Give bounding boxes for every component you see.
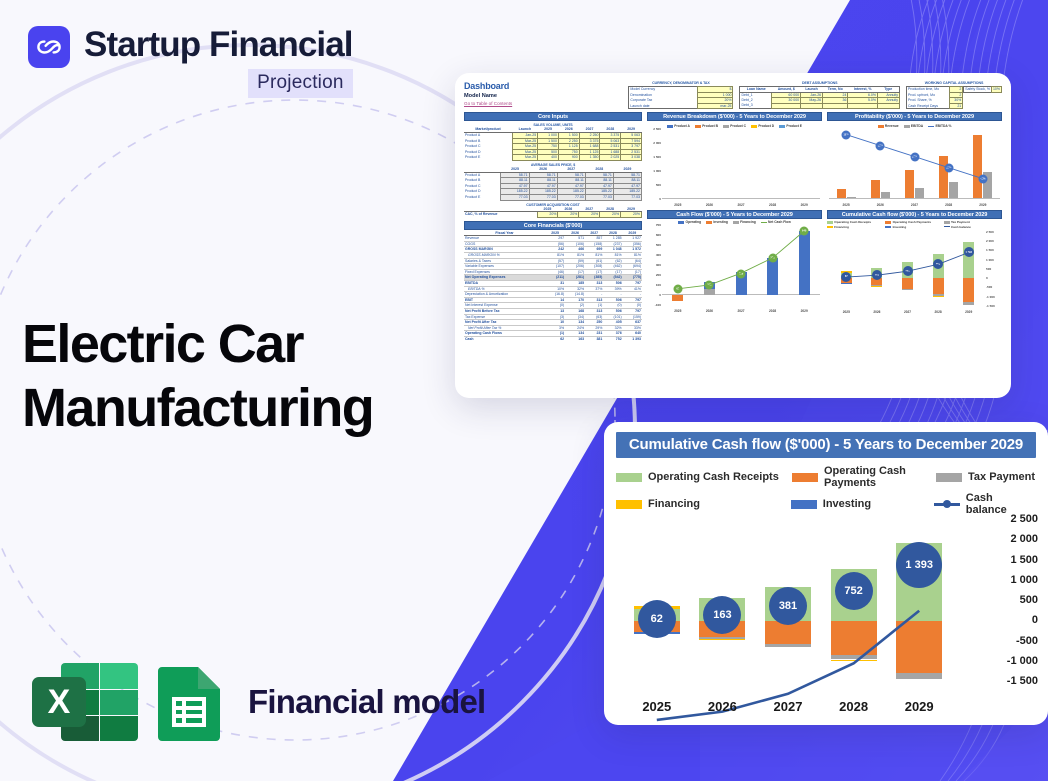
wc-extra-label: Safety Stock, % [964, 87, 992, 93]
row-label: Debt_3 [740, 103, 772, 108]
cac-2027[interactable]: 20% [579, 212, 600, 218]
x-axis-tick: 2025 [629, 699, 685, 714]
microsoft-excel-icon: X [32, 663, 138, 741]
legend-label: Operating Cash Receipts [834, 220, 871, 224]
y-axis-tick: 500 [1020, 594, 1038, 606]
x-axis-tick: 2027 [911, 203, 918, 207]
legend-item-operating-cash-receipts: Operating Cash Receipts [616, 465, 792, 489]
y-axis-tick: 1 500 [653, 155, 661, 159]
legend-swatch [885, 226, 891, 228]
legend-label: Investing [893, 225, 907, 229]
cumulative-mini-legend: Operating Cash ReceiptsOperating Cash Pa… [827, 220, 1002, 229]
chart-x-axis: 20252026202720282029 [624, 682, 952, 716]
legend-label: Product C [730, 124, 746, 128]
legend-item: Revenue [878, 124, 899, 128]
cell-value[interactable]: 77.03 [501, 194, 529, 200]
currency-rows: Model Currency$Denomination1 000Corporat… [629, 87, 733, 109]
y-axis-tick: 1 500 [1010, 554, 1038, 566]
dashboard-screenshot-card[interactable]: Dashboard Model Name Go to Table of Cont… [455, 73, 1011, 398]
legend-item: Operating [678, 220, 701, 224]
infinity-s-logo-icon [28, 26, 70, 68]
excel-letter: X [32, 677, 86, 727]
format-badges: X Financial model [32, 663, 485, 741]
x-axis-tick: 2028 [935, 310, 942, 314]
cell-value[interactable]: 1 350 [579, 155, 600, 161]
x-axis-tick: 2027 [737, 309, 744, 313]
legend-label: Investing [713, 220, 727, 224]
legend-label-operating-cash-payments: Operating Cash Payments [824, 465, 936, 489]
cash-balance-line [831, 232, 984, 306]
x-axis-tick: 2025 [674, 203, 681, 207]
legend-item: Financing [827, 225, 885, 229]
revenue-breakdown-ylabels: 2 5002 0001 5001 0005000 [647, 129, 661, 199]
table-row: Cash621633817521 393 [464, 336, 642, 341]
cumulative-mini-ylabels: 2 5002 0001 5001 0005000-500-1 000-1 500 [986, 232, 1002, 306]
row-label: Product E [464, 155, 512, 161]
row-label: Product E [464, 194, 501, 200]
cash-flow-bars: 62101218371640 [662, 225, 820, 305]
legend-swatch [878, 125, 884, 127]
legend-label: Financing [740, 220, 756, 224]
legend-swatch [733, 221, 739, 223]
profitability-xaxis: 20252026202720282029 [829, 203, 1000, 207]
cumulative-cash-flow-mini-chart: Operating Cash ReceiptsOperating Cash Pa… [827, 220, 1002, 314]
row-label: Cash [464, 336, 545, 341]
debt-assumptions-block: DEBT ASSUMPTIONS Loan NameAmount, $Launc… [739, 81, 900, 109]
cell-value[interactable]: 77.03 [529, 194, 557, 200]
brand-title: Startup Financial [84, 26, 353, 64]
legend-label: Financing [834, 225, 849, 229]
y-axis-tick: 2 500 [986, 230, 994, 234]
legend-label: Tax Payment [951, 220, 970, 224]
ebitda-pct-line [829, 129, 1000, 198]
y-axis-tick: -1 000 [1007, 655, 1038, 667]
cac-2028[interactable]: 20% [600, 212, 621, 218]
cash-flow-ylabels: 7006005004003002001000-100 [647, 225, 661, 305]
legend-swatch [885, 221, 891, 223]
legend-swatch [723, 125, 729, 127]
revenue-breakdown-legend: Product AProduct BProduct CProduct DProd… [647, 124, 822, 128]
chart-data-markers: 621633817521 393 [624, 520, 952, 682]
x-axis-tick: 2027 [737, 203, 744, 207]
legend-swatch [779, 125, 785, 127]
revenue-breakdown-xaxis: 20252026202720282029 [662, 203, 820, 207]
cac-row-label: CAC, % of Revenue [464, 212, 537, 218]
legend-label: Product A [674, 124, 690, 128]
sales-volume-rows: Product AJan-251 0001 5002 2503 3755 063… [464, 132, 642, 160]
legend-swatch-tax-payment [936, 473, 962, 482]
y-axis-tick: 2 000 [1010, 533, 1038, 545]
cac-2026[interactable]: 20% [558, 212, 579, 218]
legend-swatch [751, 125, 757, 127]
cell-value: 381 [585, 336, 603, 341]
cash-flow-legend: OperatingInvestingFinancingNet Cash Flow [647, 220, 822, 224]
legend-item: Product B [695, 124, 718, 128]
legend-swatch [944, 226, 950, 227]
chart-title: Cumulative Cash flow ($'000) - 5 Years t… [616, 432, 1036, 458]
debt-block-heading: DEBT ASSUMPTIONS [739, 81, 900, 85]
legend-swatch-financing [616, 500, 642, 509]
x-axis-tick: 2026 [706, 203, 713, 207]
cash-balance-marker: 1 393 [896, 542, 942, 588]
cumulative-cash-flow-chart-card[interactable]: Cumulative Cash flow ($'000) - 5 Years t… [604, 422, 1048, 725]
legend-label: Operating Cash Payments [893, 220, 932, 224]
cumulative-cash-flow-band: Cumulative Cash flow ($'000) - 5 Years t… [827, 210, 1002, 219]
y-axis-tick: 300 [656, 263, 661, 267]
table-row: Debt_3 [740, 103, 900, 108]
legend-swatch [928, 126, 934, 127]
x-axis-tick: 2026 [706, 309, 713, 313]
legend-label: Cash balance [951, 225, 971, 229]
y-axis-tick: 0 [659, 197, 661, 201]
legend-label-financing: Financing [648, 498, 700, 510]
wc-rows: Production time, Mo2Prod. upfront, Mo2Pr… [907, 87, 963, 109]
legend-item: Investing [885, 225, 943, 229]
cac-2025[interactable]: 20% [537, 212, 558, 218]
cac-2029[interactable]: 20% [621, 212, 642, 218]
legend-item: Operating Cash Receipts [827, 220, 885, 224]
legend-swatch-cash-balance [934, 503, 960, 506]
cell-value: 1 393 [623, 336, 642, 341]
legend-item-investing: Investing [791, 492, 934, 516]
y-axis-tick: 0 [1032, 614, 1038, 626]
y-axis-tick: 600 [656, 233, 661, 237]
revenue-breakdown-plot-area [662, 129, 820, 199]
poster-canvas: Startup Financial Projection Electric Ca… [0, 0, 1048, 781]
cell-value[interactable]: Mar-25 [512, 155, 538, 161]
y-axis-tick: 200 [656, 273, 661, 277]
legend-label: Product D [758, 124, 774, 128]
profitability-plot-area: 10%32%37%39%41% [829, 129, 1000, 199]
y-axis-tick: -100 [655, 303, 661, 307]
page-title: Electric Car Manufacturing [22, 312, 462, 440]
x-axis-tick: 2025 [843, 203, 850, 207]
revenue-breakdown-bars [662, 129, 820, 198]
x-axis-tick: 2026 [873, 310, 880, 314]
x-axis-tick: 2026 [877, 203, 884, 207]
legend-item: Operating Cash Payments [885, 220, 943, 224]
cell-value[interactable] [848, 103, 878, 108]
legend-label: Product E [786, 124, 802, 128]
cash-balance-marker: 62 [638, 600, 676, 638]
cell-value[interactable] [772, 103, 801, 108]
x-axis-tick: 2029 [965, 310, 972, 314]
revenue-breakdown-chart: Product AProduct BProduct CProduct DProd… [647, 124, 822, 207]
legend-swatch-operating-cash-payments [792, 473, 818, 482]
currency-denominator-tax-block: CURRENCY, DENOMINATOR & TAX Model Curren… [628, 81, 733, 109]
legend-swatch [827, 226, 833, 228]
row-label: Cash Receipt Days [907, 103, 950, 109]
legend-swatch-investing [791, 500, 817, 509]
y-axis-tick: 1 000 [653, 169, 661, 173]
y-axis-tick: 2 500 [653, 127, 661, 131]
cell-value[interactable]: 2 025 [600, 155, 621, 161]
x-axis-tick: 2027 [904, 310, 911, 314]
cumulative-mini-bars: 621633817521 393 [831, 232, 984, 306]
y-axis-tick: 700 [656, 223, 661, 227]
x-axis-tick: 2025 [674, 309, 681, 313]
legend-label: Product B [702, 124, 718, 128]
y-axis-tick: 2 000 [653, 141, 661, 145]
y-axis-tick: 2 000 [986, 239, 994, 243]
avg-price-rows: Product A58.7158.7158.7158.7158.71Produc… [464, 172, 642, 200]
x-axis-tick: 2029 [979, 203, 986, 207]
cell-value[interactable] [823, 103, 848, 108]
table-row: Cash Receipt Days21 [907, 103, 963, 109]
legend-swatch-operating-cash-receipts [616, 473, 642, 482]
row-label: Launch date [629, 103, 698, 109]
cell-value[interactable]: 77.03 [613, 194, 641, 200]
y-axis-tick: -1 500 [1007, 675, 1038, 687]
table-row: Product E77.0377.0377.0377.0377.03 [464, 194, 642, 200]
profitability-chart: RevenueEBITDAEBITDA % 10%32%37%39%41% 20… [827, 124, 1002, 207]
legend-label: EBITDA [911, 124, 923, 128]
cash-balance-marker: 752 [835, 572, 873, 610]
legend-label: Net Cash Flow [768, 220, 791, 224]
google-sheets-icon [152, 663, 226, 741]
core-financials-band: Core Financials ($'000) [464, 221, 642, 230]
core-inputs-band: Core Inputs [464, 112, 642, 121]
y-axis-tick: 500 [656, 243, 661, 247]
legend-item: EBITDA % [928, 124, 951, 128]
cell-value[interactable] [801, 103, 823, 108]
chart-legend: Operating Cash Receipts Operating Cash P… [616, 465, 1036, 516]
cash-flow-chart: OperatingInvestingFinancingNet Cash Flow… [647, 220, 822, 313]
y-axis-tick: -500 [986, 285, 992, 289]
cash-flow-xaxis: 20252026202720282029 [662, 309, 820, 313]
x-axis-tick: 2029 [801, 203, 808, 207]
table-row: Product EMar-254009001 3502 0253 038 [464, 155, 642, 161]
y-axis-tick: 100 [656, 283, 661, 287]
table-of-contents-link[interactable]: Go to Table of Contents [464, 101, 628, 106]
cell-value[interactable]: 900 [558, 155, 579, 161]
legend-item: Product D [751, 124, 774, 128]
legend-item: EBITDA [904, 124, 924, 128]
x-axis-tick: 2028 [945, 203, 952, 207]
working-capital-assumptions-block: WORKING CAPITAL ASSUMPTIONS Production t… [906, 81, 1002, 109]
format-badges-label: Financial model [248, 683, 485, 721]
currency-block-heading: CURRENCY, DENOMINATOR & TAX [628, 81, 733, 85]
legend-item: Product C [723, 124, 746, 128]
cumulative-mini-xaxis: 20252026202720282029 [831, 310, 984, 314]
cell-value[interactable]: 3 038 [621, 155, 642, 161]
y-axis-tick: 1 000 [1010, 574, 1038, 586]
legend-item: Cash balance [944, 225, 1002, 229]
cash-flow-band: Cash Flow ($'000) - 5 Years to December … [647, 210, 822, 219]
cell-value: 163 [565, 336, 585, 341]
x-axis-tick: 2029 [891, 699, 947, 714]
cash-flow-plot-area: 62101218371640 [662, 225, 820, 305]
legend-swatch [827, 221, 833, 223]
x-axis-tick: 2028 [769, 203, 776, 207]
net-cash-flow-line [662, 225, 820, 305]
legend-item-operating-cash-payments: Operating Cash Payments [792, 465, 936, 489]
cell-value[interactable]: 77.03 [557, 194, 585, 200]
cac-row: CAC, % of Revenue 20% 20% 20% 20% 20% [464, 212, 642, 218]
row-value[interactable]: mar-25 [698, 103, 733, 109]
cell-value[interactable] [877, 103, 899, 108]
cell-value: 62 [545, 336, 565, 341]
legend-item: Product E [779, 124, 802, 128]
legend-swatch [695, 125, 701, 127]
legend-label-investing: Investing [823, 498, 871, 510]
x-axis-tick: 2028 [769, 309, 776, 313]
revenue-breakdown-band: Revenue Breakdown ($'000) - 5 Years to D… [647, 112, 822, 121]
x-axis-tick: 2029 [801, 309, 808, 313]
legend-label-operating-cash-receipts: Operating Cash Receipts [648, 471, 779, 483]
y-axis-tick: -1 000 [986, 295, 995, 299]
legend-swatch [667, 125, 673, 127]
brand-header: Startup Financial Projection [28, 26, 353, 98]
x-axis-tick: 2027 [760, 699, 816, 714]
x-axis-tick: 2025 [843, 310, 850, 314]
legend-swatch [944, 221, 950, 223]
profitability-band: Profitability ($'000) - 5 Years to Decem… [827, 112, 1002, 121]
cell-value: 752 [603, 336, 622, 341]
y-axis-tick: 0 [986, 276, 988, 280]
dashboard-model-name: Model Name [464, 93, 628, 99]
legend-swatch [706, 221, 712, 223]
y-axis-tick: 400 [656, 253, 661, 257]
legend-label-tax-payment: Tax Payment [968, 471, 1035, 483]
y-axis-tick: 1 500 [986, 248, 994, 252]
chart-plot-area: 2 5002 0001 5001 0005000-500-1 000-1 500… [616, 520, 1036, 716]
cash-balance-marker: 381 [769, 587, 807, 625]
brand-subtitle: Projection [248, 69, 353, 98]
legend-item-tax-payment: Tax Payment [936, 465, 1035, 489]
y-axis-tick: 500 [986, 267, 991, 271]
x-axis-tick: 2028 [826, 699, 882, 714]
cell-value[interactable]: 77.03 [585, 194, 613, 200]
cash-balance-marker: 163 [703, 596, 741, 634]
y-axis-tick: 0 [659, 293, 661, 297]
legend-item: Product A [667, 124, 690, 128]
cumulative-mini-plot-area: 621633817521 393 [831, 232, 984, 306]
wc-extra-value[interactable]: 10% [991, 87, 1001, 93]
legend-label: Revenue [885, 124, 899, 128]
legend-item-financing: Financing [616, 492, 791, 516]
legend-swatch [761, 222, 767, 223]
legend-label: EBITDA % [935, 124, 951, 128]
profitability-bars: 10%32%37%39%41% [829, 129, 1000, 198]
table-row: Launch datemar-25 [629, 103, 733, 109]
legend-item: Financing [733, 220, 756, 224]
y-axis-tick: -1 500 [986, 304, 995, 308]
dashboard-title: Dashboard [464, 81, 628, 91]
legend-item: Investing [706, 220, 728, 224]
legend-label: Operating [686, 220, 702, 224]
cell-value[interactable]: 400 [538, 155, 559, 161]
legend-item: Net Cash Flow [761, 220, 791, 224]
y-axis-tick: 500 [656, 183, 661, 187]
legend-swatch [678, 221, 684, 223]
legend-swatch [904, 125, 910, 127]
debt-rows: Debt_160 000Jan-26246.0%AnnuityDebt_230 … [740, 92, 900, 108]
row-value[interactable]: 21 [950, 103, 963, 109]
legend-item: Tax Payment [944, 220, 1002, 224]
y-axis-tick: -500 [1016, 635, 1038, 647]
x-axis-tick: 2026 [694, 699, 750, 714]
core-financials-rows: Revenue2975718571 2851 927COGS(56)(106)(… [464, 236, 642, 342]
y-axis-tick: 2 500 [1010, 513, 1038, 525]
profitability-legend: RevenueEBITDAEBITDA % [827, 124, 1002, 128]
y-axis-tick: 1 000 [986, 258, 994, 262]
